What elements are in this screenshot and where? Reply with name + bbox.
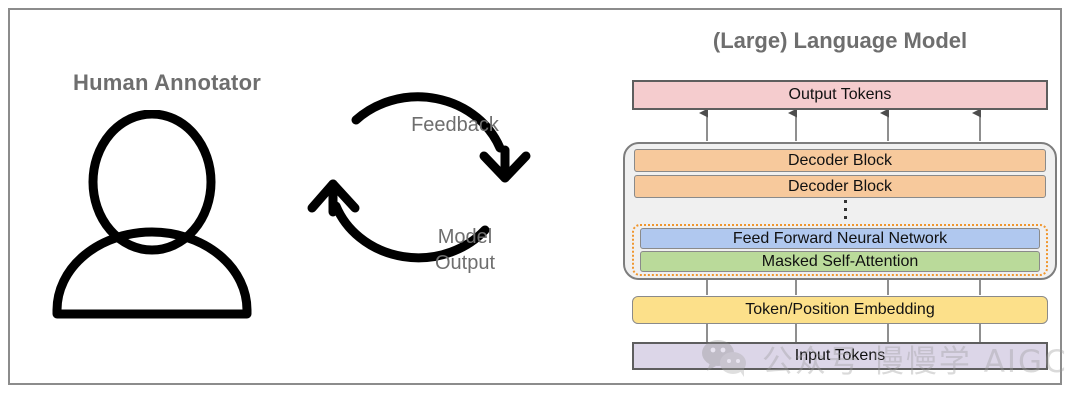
output-tokens-box: Output Tokens xyxy=(632,80,1048,110)
masked-self-attention-box: Masked Self-Attention xyxy=(640,251,1040,272)
decoder-block-1: Decoder Block xyxy=(634,149,1046,172)
model-output-line1: Model xyxy=(400,224,530,250)
decoder-block-2: Decoder Block xyxy=(634,175,1046,198)
model-output-label: Model Output xyxy=(400,224,530,276)
human-annotator-title: Human Annotator xyxy=(52,70,282,96)
diagram-canvas: Human Annotator Feedback Model Output (L… xyxy=(0,0,1080,400)
vertical-ellipsis-icon xyxy=(839,200,851,224)
llm-title: (Large) Language Model xyxy=(630,28,1050,54)
feed-forward-neural-network-box: Feed Forward Neural Network xyxy=(640,228,1040,249)
input-tokens-box: Input Tokens xyxy=(632,342,1048,370)
feedback-label: Feedback xyxy=(380,112,530,138)
person-icon xyxy=(42,110,312,340)
token-position-embedding-box: Token/Position Embedding xyxy=(632,296,1048,324)
model-output-line2: Output xyxy=(400,250,530,276)
